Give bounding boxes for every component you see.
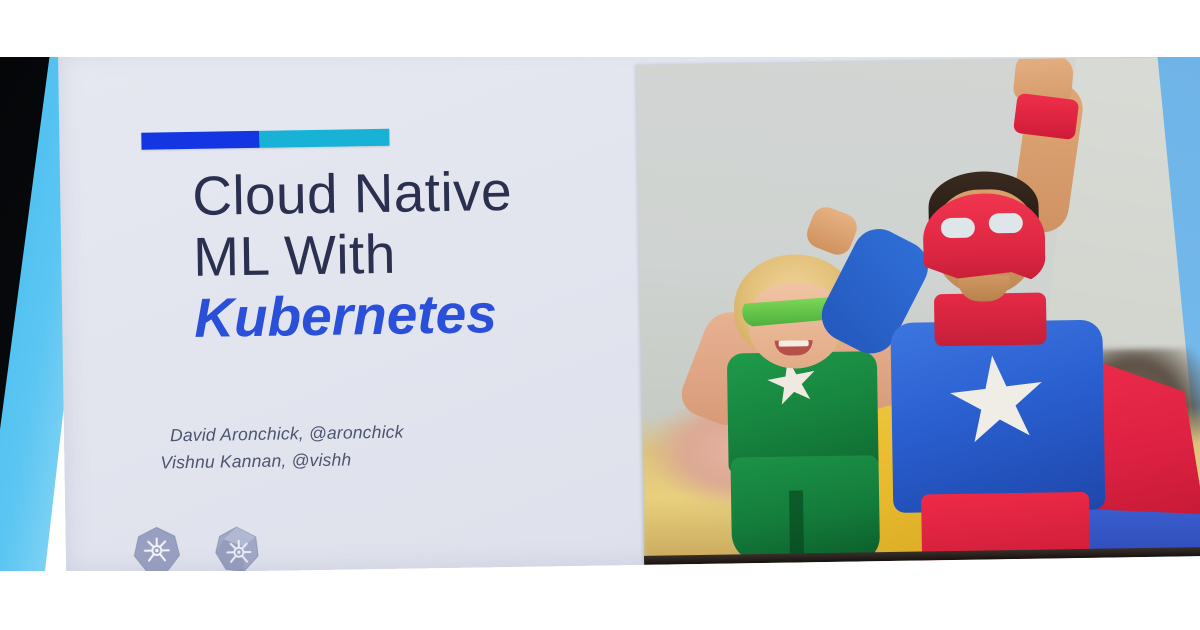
red-wristband [1013,93,1079,140]
green-shorts [730,455,880,563]
title-line-3-kubernetes: Kubernetes [194,280,715,349]
red-mask [922,193,1045,287]
kubernetes-3d-logo [211,524,262,574]
accent-segment-cyan [259,129,389,148]
title-line-2: ML With [193,219,714,288]
logo-row [131,524,262,574]
title-line-1: Cloud Native [192,158,713,227]
author-line-2: Vishnu Kannan, @vishh [160,442,620,476]
accent-segment-blue [141,131,259,150]
kubernetes-logo [131,525,182,574]
letterbox-top [0,0,1200,57]
blue-eye-right [989,213,1023,234]
slide-photo [636,56,1200,565]
presentation-slide: Cloud Native ML With Kubernetes David Ar… [58,34,1200,574]
accent-bar [141,129,389,150]
blue-eye-left [941,218,975,239]
screenshot-stage: Cloud Native ML With Kubernetes David Ar… [0,0,1200,630]
photo-content [636,56,1200,565]
slide-left-column: Cloud Native ML With Kubernetes David Ar… [104,62,672,573]
letterbox-bottom [0,571,1200,630]
author-list: David Aronchick, @aronchick Vishnu Kanna… [160,415,621,476]
child-blue [870,169,1176,564]
slide-title: Cloud Native ML With Kubernetes [192,158,715,349]
